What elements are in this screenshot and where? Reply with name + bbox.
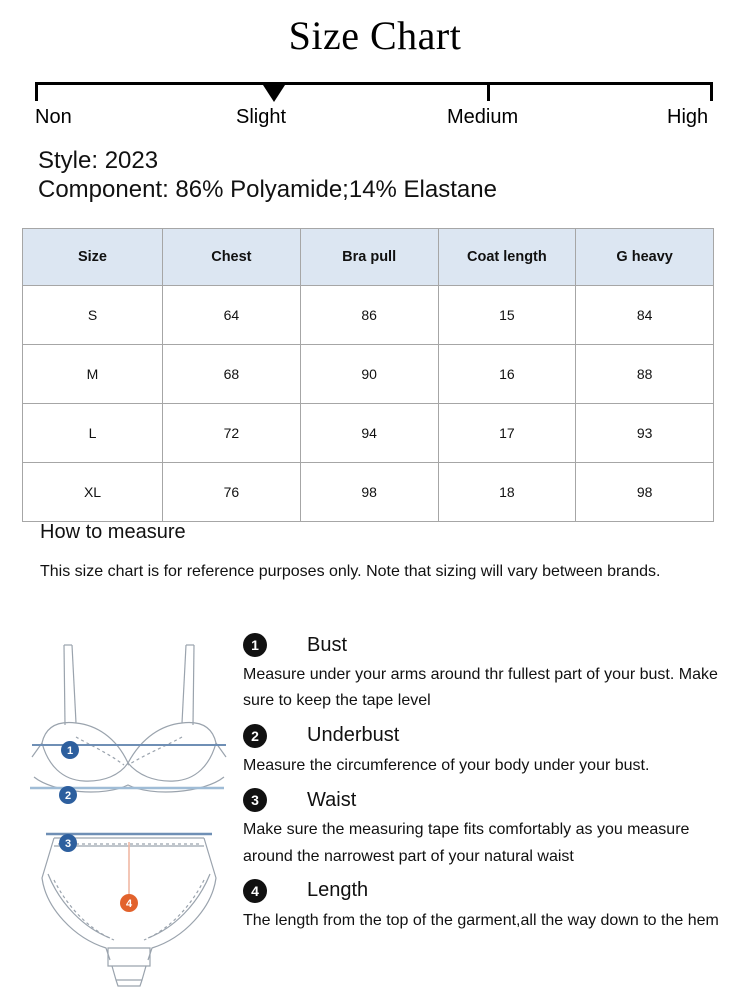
cell-size: S — [23, 286, 163, 345]
page-title: Size Chart — [0, 14, 750, 58]
measure-step-waist: 3 Waist Make sure the measuring tape fit… — [243, 785, 743, 870]
measure-steps: 1 Bust Measure under your arms around th… — [243, 630, 743, 934]
scale-line — [35, 82, 713, 85]
scale-label-high: High — [667, 106, 708, 129]
step-header: 1 Bust — [243, 630, 743, 660]
scale-tick-non — [35, 82, 38, 101]
cell-bra-pull: 98 — [300, 463, 438, 522]
cell-g-heavy: 84 — [576, 286, 714, 345]
cell-size: M — [23, 345, 163, 404]
panty-marker-4: 4 — [120, 894, 138, 912]
scale-tick-high — [710, 82, 713, 101]
size-table: Size Chest Bra pull Coat length G heavy … — [22, 228, 714, 522]
measure-step-underbust: 2 Underbust Measure the circumference of… — [243, 721, 743, 779]
table-row: M 68 90 16 88 — [23, 345, 714, 404]
cell-bra-pull: 90 — [300, 345, 438, 404]
step-title: Underbust — [307, 724, 399, 747]
cell-chest: 68 — [163, 345, 301, 404]
table-row: XL 76 98 18 98 — [23, 463, 714, 522]
cell-coat-length: 18 — [438, 463, 576, 522]
svg-text:4: 4 — [126, 898, 133, 910]
column-header-chest: Chest — [163, 229, 301, 286]
step-description: Measure under your arms around thr fulle… — [243, 662, 743, 715]
cell-chest: 72 — [163, 404, 301, 463]
how-to-measure-heading: How to measure — [40, 521, 186, 544]
panty-marker-3: 3 — [59, 834, 77, 852]
component-line: Component: 86% Polyamide;14% Elastane — [38, 175, 718, 205]
cell-g-heavy: 88 — [576, 345, 714, 404]
cell-chest: 64 — [163, 286, 301, 345]
step-number-badge: 3 — [243, 788, 267, 812]
cell-g-heavy: 93 — [576, 404, 714, 463]
stretch-scale: Non Slight Medium High — [35, 82, 713, 142]
how-to-measure-note: This size chart is for reference purpose… — [40, 563, 660, 581]
step-number-badge: 4 — [243, 879, 267, 903]
step-description: Measure the circumference of your body u… — [243, 753, 743, 779]
svg-text:1: 1 — [67, 745, 73, 757]
step-header: 4 Length — [243, 876, 743, 906]
cell-coat-length: 15 — [438, 286, 576, 345]
style-line: Style: 2023 — [38, 146, 718, 176]
step-number-badge: 1 — [243, 633, 267, 657]
cell-g-heavy: 98 — [576, 463, 714, 522]
column-header-bra-pull: Bra pull — [300, 229, 438, 286]
scale-label-medium: Medium — [447, 106, 518, 129]
cell-size: XL — [23, 463, 163, 522]
step-header: 3 Waist — [243, 785, 743, 815]
column-header-size: Size — [23, 229, 163, 286]
cell-chest: 76 — [163, 463, 301, 522]
measure-step-bust: 1 Bust Measure under your arms around th… — [243, 630, 743, 715]
table-row: L 72 94 17 93 — [23, 404, 714, 463]
svg-text:3: 3 — [65, 838, 71, 850]
scale-label-slight: Slight — [236, 106, 286, 129]
scale-pointer-slight — [263, 85, 285, 102]
step-title: Length — [307, 879, 368, 902]
step-description: The length from the top of the garment,a… — [243, 908, 743, 934]
bra-marker-2: 2 — [59, 786, 77, 804]
bra-illustration: 1 2 — [24, 625, 234, 805]
scale-label-non: Non — [35, 106, 72, 129]
bra-marker-1: 1 — [61, 741, 79, 759]
step-number-badge: 2 — [243, 724, 267, 748]
step-title: Bust — [307, 634, 347, 657]
scale-tick-medium — [487, 82, 490, 101]
cell-coat-length: 16 — [438, 345, 576, 404]
cell-bra-pull: 86 — [300, 286, 438, 345]
column-header-coat-length: Coat length — [438, 229, 576, 286]
measure-step-length: 4 Length The length from the top of the … — [243, 876, 743, 934]
step-description: Make sure the measuring tape fits comfor… — [243, 817, 743, 870]
table-header-row: Size Chest Bra pull Coat length G heavy — [23, 229, 714, 286]
table-row: S 64 86 15 84 — [23, 286, 714, 345]
cell-coat-length: 17 — [438, 404, 576, 463]
svg-text:2: 2 — [65, 790, 71, 802]
step-title: Waist — [307, 789, 356, 812]
column-header-g-heavy: G heavy — [576, 229, 714, 286]
cell-bra-pull: 94 — [300, 404, 438, 463]
step-header: 2 Underbust — [243, 721, 743, 751]
panty-illustration: 3 4 — [24, 808, 234, 993]
cell-size: L — [23, 404, 163, 463]
